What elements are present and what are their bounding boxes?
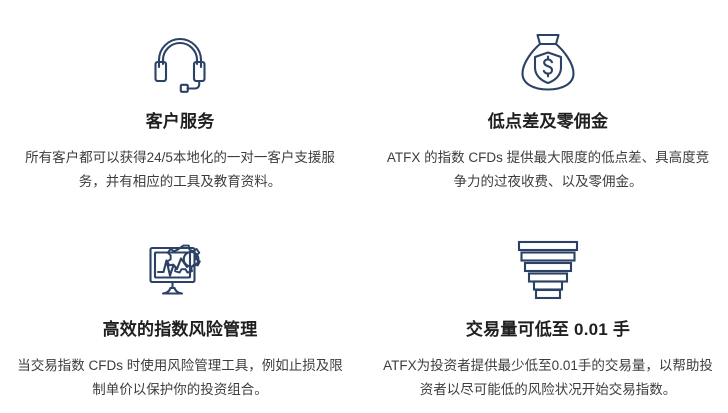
monitor-chart-gear-icon: [143, 234, 217, 306]
feature-description-line: 争力的过夜收费、以及零佣金。: [387, 170, 709, 193]
feature-description-line: ATFX 的指数 CFDs 提供最大限度的低点差、具高度竞: [387, 146, 709, 169]
headset-icon: [143, 26, 217, 98]
feature-description: ATFX 的指数 CFDs 提供最大限度的低点差、具高度竞 争力的过夜收费、以及…: [387, 146, 709, 192]
feature-grid: 客户服务 所有客户都可以获得24/5本地化的一对一客户支援服 务，并有相应的工具…: [0, 0, 728, 413]
feature-description-line: 资者以尽可能低的风险状况开始交易指数。: [383, 378, 713, 401]
feature-description-line: 当交易指数 CFDs 时使用风险管理工具，例如止损及限: [17, 354, 343, 377]
feature-card-risk-management: 高效的指数风险管理 当交易指数 CFDs 时使用风险管理工具，例如止损及限 制单…: [0, 206, 364, 413]
feature-title: 低点差及零佣金: [488, 112, 608, 132]
money-bag-shield-dollar-icon: [511, 26, 585, 98]
feature-description: 所有客户都可以获得24/5本地化的一对一客户支援服 务，并有相应的工具及教育资料…: [25, 146, 335, 192]
feature-description: ATFX为投资者提供最少低至0.01手的交易量，以帮助投 资者以尽可能低的风险状…: [383, 354, 713, 400]
feature-title: 客户服务: [146, 112, 215, 132]
funnel-bars-icon: [511, 234, 585, 306]
feature-card-customer-service: 客户服务 所有客户都可以获得24/5本地化的一对一客户支援服 务，并有相应的工具…: [0, 0, 364, 206]
feature-description: 当交易指数 CFDs 时使用风险管理工具，例如止损及限 制单价以保护你的投资组合…: [17, 354, 343, 400]
feature-description-line: 所有客户都可以获得24/5本地化的一对一客户支援服: [25, 146, 335, 169]
feature-card-low-spread: 低点差及零佣金 ATFX 的指数 CFDs 提供最大限度的低点差、具高度竞 争力…: [364, 0, 728, 206]
feature-description-line: 务，并有相应的工具及教育资料。: [25, 170, 335, 193]
feature-title: 交易量可低至 0.01 手: [466, 320, 630, 340]
feature-description-line: 制单价以保护你的投资组合。: [17, 378, 343, 401]
feature-title: 高效的指数风险管理: [103, 320, 258, 340]
feature-card-minimum-lot: 交易量可低至 0.01 手 ATFX为投资者提供最少低至0.01手的交易量，以帮…: [364, 206, 728, 413]
feature-description-line: ATFX为投资者提供最少低至0.01手的交易量，以帮助投: [383, 354, 713, 377]
